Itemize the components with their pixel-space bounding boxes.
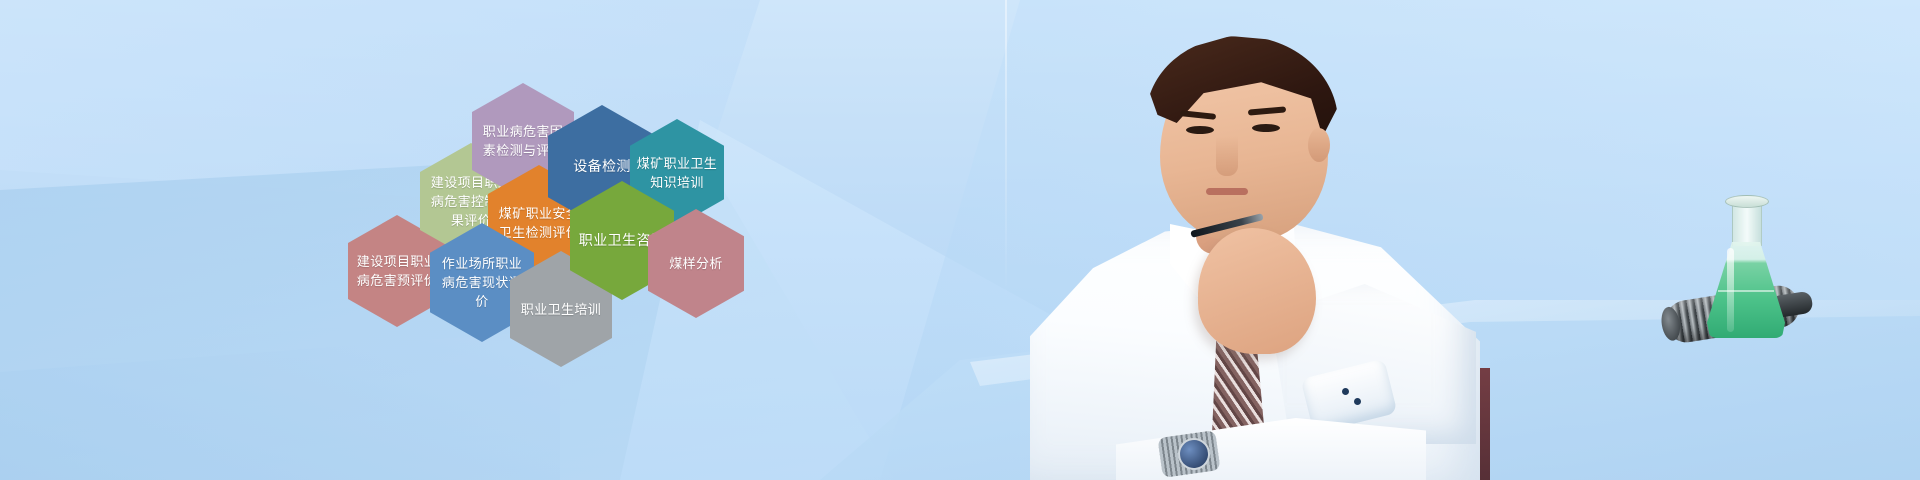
mouth <box>1206 188 1248 195</box>
flask-liquid-line <box>1718 290 1774 292</box>
hex-label: 煤样分析 <box>654 254 738 273</box>
hex-label: 职业卫生培训 <box>516 300 606 319</box>
background-facet-bottom-left <box>0 330 560 480</box>
hex-label: 煤矿职业卫生知识培训 <box>636 154 718 192</box>
photo-composition <box>820 0 1920 480</box>
banner-hero: 建设项目职业病危害预评价建设项目职业病危害控制效果评价职业病危害因素检测与评价煤… <box>0 0 1920 480</box>
hexagon-service-cluster: 建设项目职业病危害预评价建设项目职业病危害控制效果评价职业病危害因素检测与评价煤… <box>330 55 760 335</box>
hex-label: 建设项目职业病危害预评价 <box>354 252 440 290</box>
flask-lip <box>1725 195 1769 208</box>
cuff-button-bottom <box>1354 398 1361 405</box>
erlenmeyer-flask <box>1705 192 1787 342</box>
businessman-figure <box>1020 16 1490 480</box>
eye-left <box>1186 126 1214 134</box>
eye-right <box>1252 124 1280 132</box>
nose <box>1216 136 1238 176</box>
cuff-button-top <box>1342 388 1349 395</box>
ear <box>1308 128 1330 162</box>
